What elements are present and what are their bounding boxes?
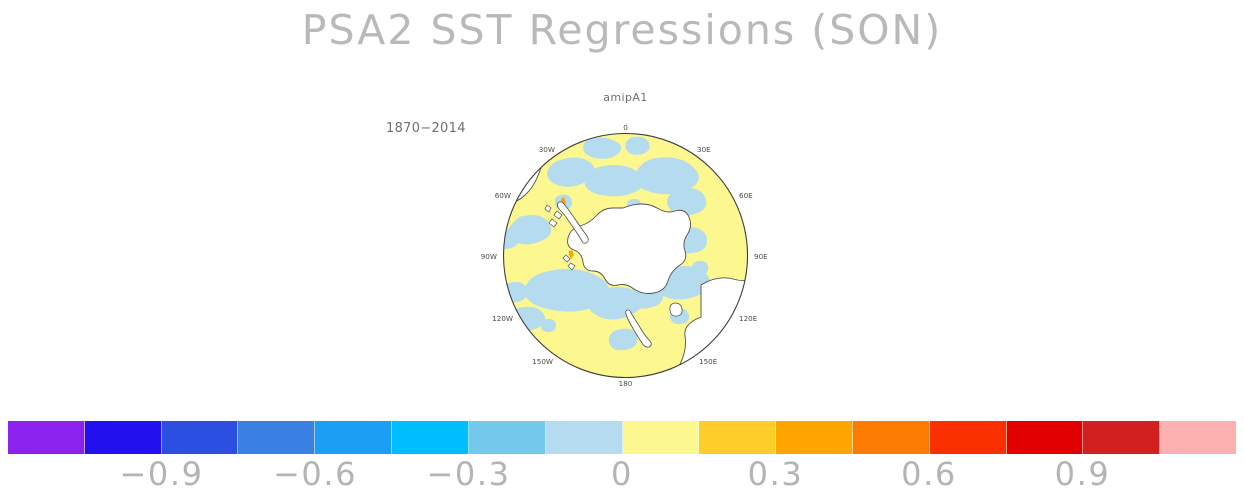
colorbar-swatch-13 [1007,421,1084,454]
lon-label-60w: 60W [495,191,511,200]
colorbar-tick-0: −0.9 [119,455,203,493]
panel-subtitle: amipA1 [443,91,808,104]
map-panel: amipA1 1870−2014 [503,133,748,378]
lon-label-0: 0 [623,123,628,132]
colorbar-swatch-10 [776,421,853,454]
colorbar [8,421,1236,454]
lon-label-150e: 150E [699,357,718,366]
colorbar-swatch-5 [392,421,469,454]
colorbar-swatch-1 [85,421,162,454]
lon-label-30w: 30W [539,145,555,154]
colorbar-swatch-9 [699,421,776,454]
colorbar-swatch-15 [1160,421,1236,454]
colorbar-swatch-12 [930,421,1007,454]
lon-label-150w: 150W [532,357,553,366]
polar-stereographic-map: 0 30E 60E 90E 120E 150E 180 150W 120W 90… [503,133,748,378]
colorbar-tick-6: 0.9 [1055,455,1111,493]
lon-label-30e: 30E [697,145,711,154]
colorbar-swatch-3 [238,421,315,454]
colorbar-tick-labels: −0.9−0.6−0.300.30.60.9 [0,455,1244,501]
page-title: PSA2 SST Regressions (SON) [0,6,1244,54]
tasmania-landmass [670,303,682,316]
colorbar-swatch-0 [8,421,85,454]
colorbar-tick-1: −0.6 [273,455,357,493]
colorbar-swatch-4 [315,421,392,454]
panel-period-label: 1870−2014 [386,121,466,136]
colorbar-tick-3: 0 [611,455,633,493]
colorbar-tick-4: 0.3 [748,455,804,493]
colorbar-swatch-14 [1083,421,1160,454]
figure-canvas: PSA2 SST Regressions (SON) amipA1 1870−2… [0,0,1244,502]
colorbar-swatch-11 [853,421,930,454]
colorbar-swatch-2 [162,421,239,454]
madagascar-landmass [724,155,738,177]
lon-label-90w: 90W [481,252,497,261]
colorbar-swatch-8 [623,421,700,454]
colorbar-tick-2: −0.3 [426,455,510,493]
lon-label-180: 180 [619,379,633,388]
lon-label-90e: 90E [754,252,768,261]
colorbar-swatch-6 [469,421,546,454]
colorbar-swatch-7 [546,421,623,454]
lon-label-120e: 120E [739,314,758,323]
colorbar-tick-5: 0.6 [901,455,957,493]
lon-label-60e: 60E [739,191,753,200]
lon-label-120w: 120W [492,314,513,323]
